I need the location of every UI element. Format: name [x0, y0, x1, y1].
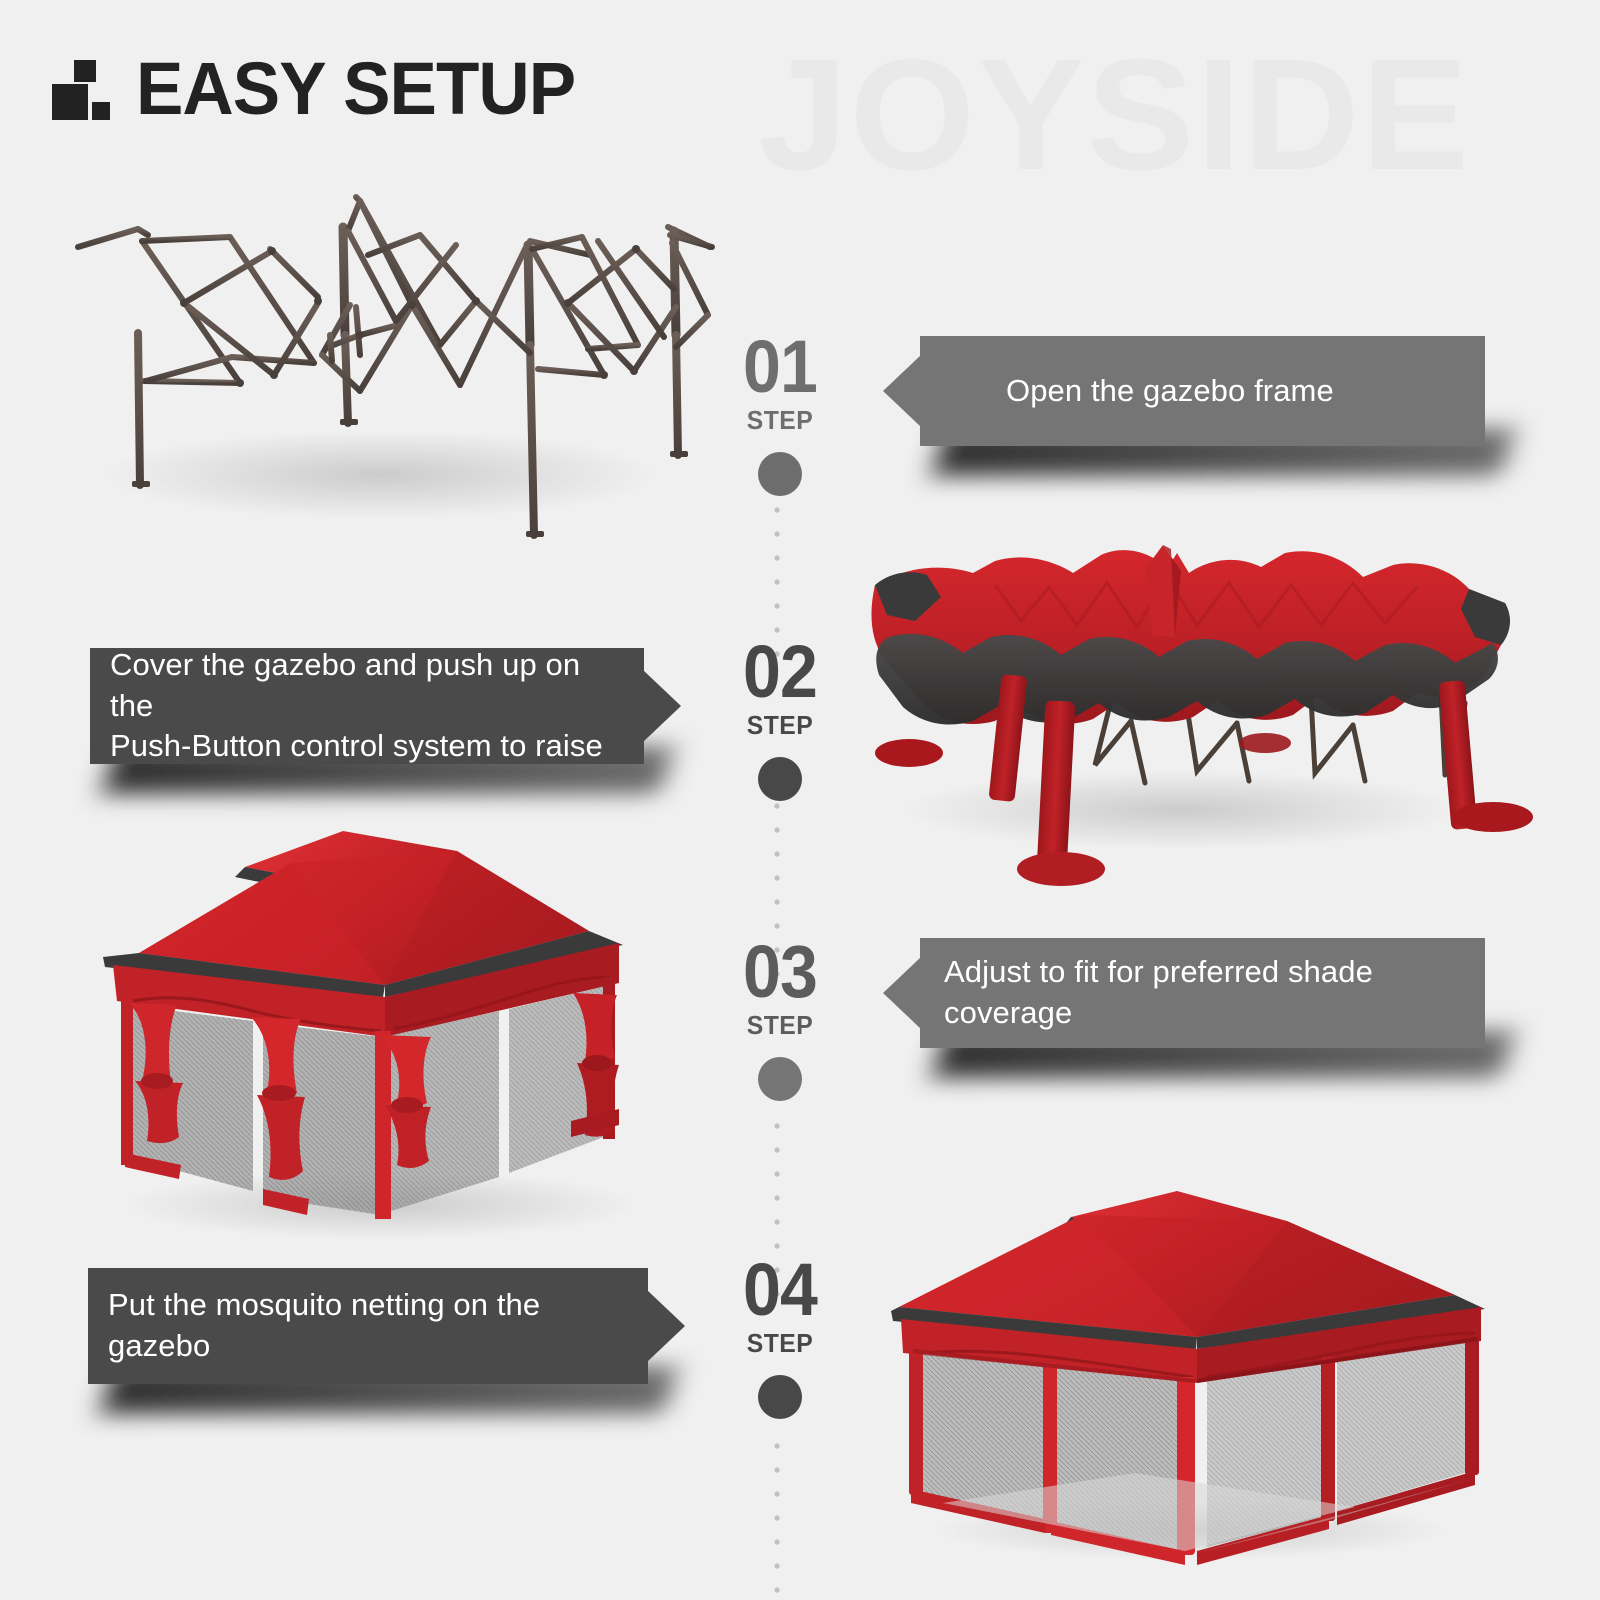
page-title: EASY SETUP	[136, 52, 575, 126]
step-dot-02	[758, 757, 802, 801]
blocks-icon	[52, 58, 110, 120]
callout-step-01[interactable]: Open the gazebo frame	[920, 336, 1485, 446]
timeline-dots-4-end	[771, 1440, 783, 1600]
step-marker-04: 04 STEP	[695, 1258, 865, 1419]
callout-text-01: Open the gazebo frame	[1006, 371, 1334, 412]
callout-step-04[interactable]: Put the mosquito netting on the gazebo	[88, 1268, 648, 1384]
callout-body: Put the mosquito netting on the gazebo	[88, 1268, 648, 1384]
step-number-03: 03	[702, 940, 858, 1004]
callout-body: Cover the gazebo and push up on the Push…	[90, 648, 644, 764]
callout-text-02: Cover the gazebo and push up on the Push…	[110, 645, 614, 768]
step-label-03: STEP	[699, 1010, 861, 1041]
infographic-canvas: JOYSIDE EASY SETUP 01 STEP Open the gaze…	[0, 0, 1600, 1600]
callout-text-02-line2: Push-Button control system to raise	[110, 726, 614, 767]
callout-text-02-line1: Cover the gazebo and push up on the	[110, 645, 614, 727]
brand-watermark: JOYSIDE	[758, 36, 1471, 194]
step-number-02: 02	[702, 640, 858, 704]
photo-gazebo-netting	[885, 1155, 1500, 1565]
callout-text-04: Put the mosquito netting on the gazebo	[108, 1285, 618, 1367]
step-dot-04	[758, 1375, 802, 1419]
step-label-02: STEP	[699, 710, 861, 741]
callout-step-03[interactable]: Adjust to fit for preferred shade covera…	[920, 938, 1485, 1048]
gazebo-frame-illustration	[60, 185, 720, 555]
gazebo-netting-illustration	[885, 1155, 1500, 1565]
photo-canopy-draped	[845, 525, 1535, 875]
step-marker-01: 01 STEP	[695, 335, 865, 496]
callout-arrow-icon	[643, 670, 681, 742]
step-marker-03: 03 STEP	[695, 940, 865, 1101]
step-dot-01	[758, 452, 802, 496]
callout-body: Open the gazebo frame	[920, 336, 1485, 446]
header: EASY SETUP	[52, 52, 593, 126]
step-number-04: 04	[702, 1258, 858, 1322]
callout-body: Adjust to fit for preferred shade covera…	[920, 938, 1485, 1048]
step-number-01: 01	[702, 335, 858, 399]
draped-canopy-illustration	[845, 525, 1535, 875]
step-dot-03	[758, 1057, 802, 1101]
step-marker-02: 02 STEP	[695, 640, 865, 801]
step-label-01: STEP	[699, 405, 861, 436]
step-label-04: STEP	[699, 1328, 861, 1359]
gazebo-curtains-illustration	[85, 805, 655, 1235]
callout-arrow-icon	[647, 1290, 685, 1362]
callout-text-03: Adjust to fit for preferred shade covera…	[944, 952, 1473, 1034]
callout-step-02[interactable]: Cover the gazebo and push up on the Push…	[90, 648, 644, 764]
callout-arrow-icon	[883, 355, 921, 427]
photo-gazebo-frame	[60, 185, 720, 555]
photo-gazebo-curtains	[85, 805, 655, 1235]
callout-arrow-icon	[883, 957, 921, 1029]
